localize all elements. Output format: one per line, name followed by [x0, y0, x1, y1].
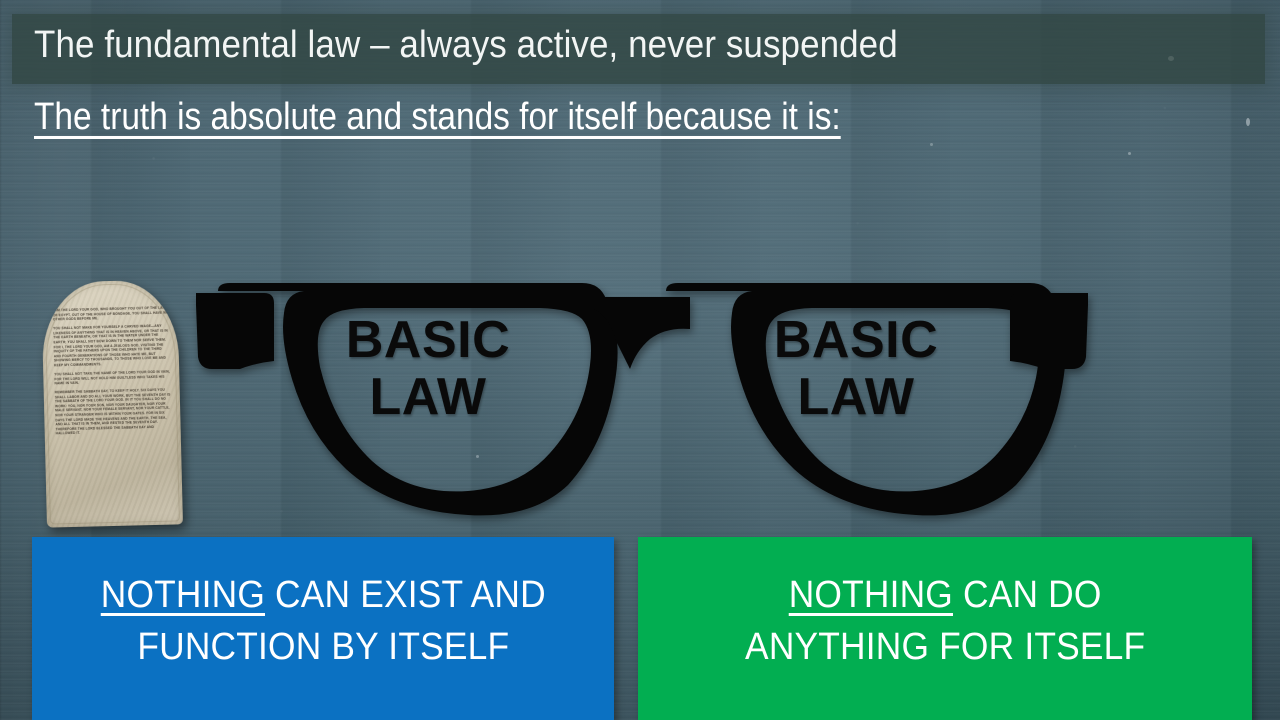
statement-green-rest: CAN DO: [953, 574, 1102, 616]
tablet-paragraph: REMEMBER THE SABBATH DAY, TO KEEP IT HOL…: [55, 388, 172, 437]
tablet-paragraph: I AM THE LORD YOUR GOD, WHO BROUGHT YOU …: [53, 306, 169, 323]
stone-tablet: I AM THE LORD YOUR GOD, WHO BROUGHT YOU …: [41, 279, 183, 527]
statement-green-text: NOTHING CAN DO ANYTHING FOR ITSELF: [745, 569, 1145, 695]
slide-canvas: The fundamental law – always active, nev…: [0, 0, 1280, 720]
statement-box-green[interactable]: NOTHING CAN DO ANYTHING FOR ITSELF: [638, 537, 1252, 720]
tablet-paragraph: YOU SHALL NOT MAKE FOR YOURSELF A CARVED…: [53, 324, 170, 368]
page-title: The fundamental law – always active, nev…: [34, 22, 1120, 68]
tablet-commandments-text: I AM THE LORD YOUR GOD, WHO BROUGHT YOU …: [53, 306, 174, 520]
tablet-paragraph: YOU SHALL NOT TAKE THE NAME OF THE LORD …: [54, 369, 170, 386]
statement-green-line1: NOTHING CAN DO: [745, 569, 1145, 621]
right-lens-label-line2: LAW: [736, 369, 976, 426]
statement-green-line2: ANYTHING FOR ITSELF: [745, 621, 1145, 673]
statement-blue-emphasis: NOTHING: [100, 574, 264, 616]
statement-blue-line1: NOTHING CAN EXIST AND: [100, 569, 545, 621]
dust-speck: [1128, 152, 1131, 155]
right-lens-label-line1: BASIC: [774, 311, 938, 369]
dust-speck: [930, 143, 933, 146]
left-lens-label-line1: BASIC: [346, 311, 510, 369]
left-lens-label: BASIC LAW: [308, 312, 548, 426]
left-lens-label-line2: LAW: [308, 369, 548, 426]
dust-speck: [1246, 118, 1250, 126]
statement-blue-line2: FUNCTION BY ITSELF: [100, 621, 545, 673]
statement-blue-text: NOTHING CAN EXIST AND FUNCTION BY ITSELF: [100, 569, 545, 695]
right-lens-label: BASIC LAW: [736, 312, 976, 426]
statement-blue-rest: CAN EXIST AND: [265, 574, 546, 616]
statement-box-blue[interactable]: NOTHING CAN EXIST AND FUNCTION BY ITSELF: [32, 537, 614, 720]
tablet-body: I AM THE LORD YOUR GOD, WHO BROUGHT YOU …: [41, 279, 183, 527]
page-subtitle: The truth is absolute and stands for its…: [34, 94, 841, 140]
statement-green-emphasis: NOTHING: [789, 574, 953, 616]
